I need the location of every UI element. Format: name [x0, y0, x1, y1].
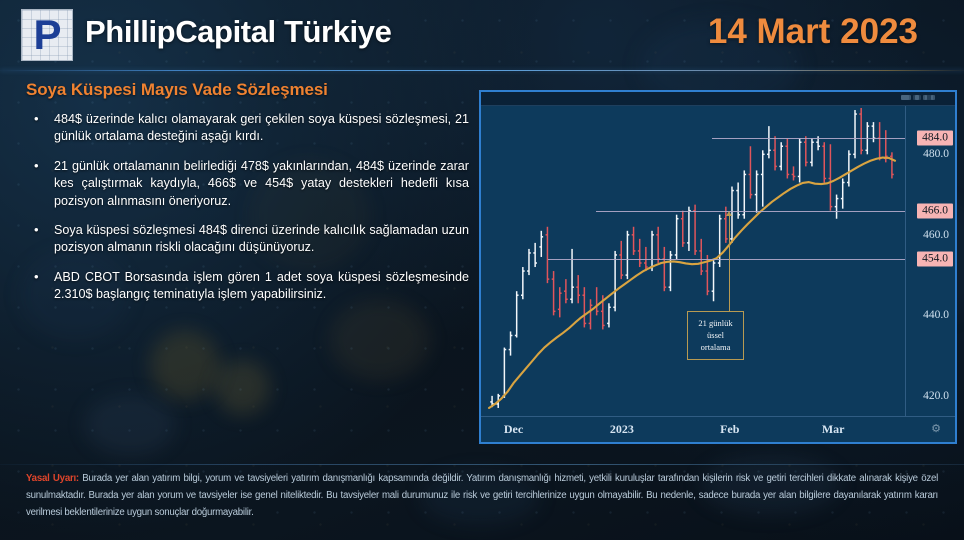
price-tick-466.0[interactable]: 466.0 — [917, 203, 953, 218]
time-tick-Mar: Mar — [822, 422, 845, 437]
time-tick-Dec: Dec — [504, 422, 523, 437]
disclaimer-label: Yasal Uyarı: — [26, 473, 79, 484]
price-chart[interactable]: 21 günlük üssel ortalama 484.0480.0466.0… — [479, 90, 957, 444]
page-title: Soya Küspesi Mayıs Vade Sözleşmesi — [26, 80, 469, 100]
time-tick-Feb: Feb — [720, 422, 739, 437]
disclaimer-text: Burada yer alan yatırım bilgi, yorum ve … — [26, 473, 938, 518]
header-divider — [0, 70, 964, 71]
chart-series-svg — [481, 106, 905, 416]
price-tick-420.0: 420.0 — [923, 390, 949, 402]
list-item: 21 günlük ortalamanın belirlediği 478$ y… — [26, 158, 469, 210]
commentary-panel: Soya Küspesi Mayıs Vade Sözleşmesi 484$ … — [26, 80, 469, 316]
logo-letter: P — [33, 14, 60, 56]
level-line-484 — [712, 138, 905, 139]
list-item: 484$ üzerinde kalıcı olamayarak geri çek… — [26, 111, 469, 146]
list-item: ABD CBOT Borsasında işlem gören 1 adet s… — [26, 269, 469, 304]
price-tick-484.0[interactable]: 484.0 — [917, 131, 953, 146]
commentary-list: 484$ üzerinde kalıcı olamayarak geri çek… — [26, 111, 469, 304]
footer-divider — [0, 464, 964, 465]
price-tick-480.0: 480.0 — [923, 148, 949, 160]
phillipcapital-logo-icon: P — [21, 9, 73, 61]
annotation-leader-line — [729, 216, 730, 316]
level-line-454 — [548, 259, 905, 260]
price-tick-440.0: 440.0 — [923, 309, 949, 321]
gear-icon[interactable]: ⚙ — [931, 424, 941, 434]
chart-plot-area[interactable]: 21 günlük üssel ortalama — [481, 106, 905, 416]
time-axis[interactable]: ⚙ Dec2023FebMar — [481, 416, 955, 442]
legal-disclaimer: Yasal Uyarı: Burada yer alan yatırım bil… — [26, 470, 938, 521]
chart-toolbar-strip — [481, 92, 955, 106]
report-date: 14 Mart 2023 — [708, 12, 918, 52]
page-header: P PhillipCapital Türkiye 14 Mart 2023 — [0, 0, 964, 72]
list-item: Soya küspesi sözleşmesi 484$ direnci üze… — [26, 222, 469, 257]
price-axis[interactable]: 484.0480.0466.0460.0454.0440.0420.0 — [905, 106, 955, 416]
time-tick-2023: 2023 — [610, 422, 634, 437]
annotation-label: 21 günlük üssel ortalama — [687, 311, 744, 360]
price-tick-454.0[interactable]: 454.0 — [917, 251, 953, 266]
brand-title: PhillipCapital Türkiye — [85, 14, 391, 50]
price-tick-460.0: 460.0 — [923, 229, 949, 241]
level-line-466 — [596, 211, 905, 212]
